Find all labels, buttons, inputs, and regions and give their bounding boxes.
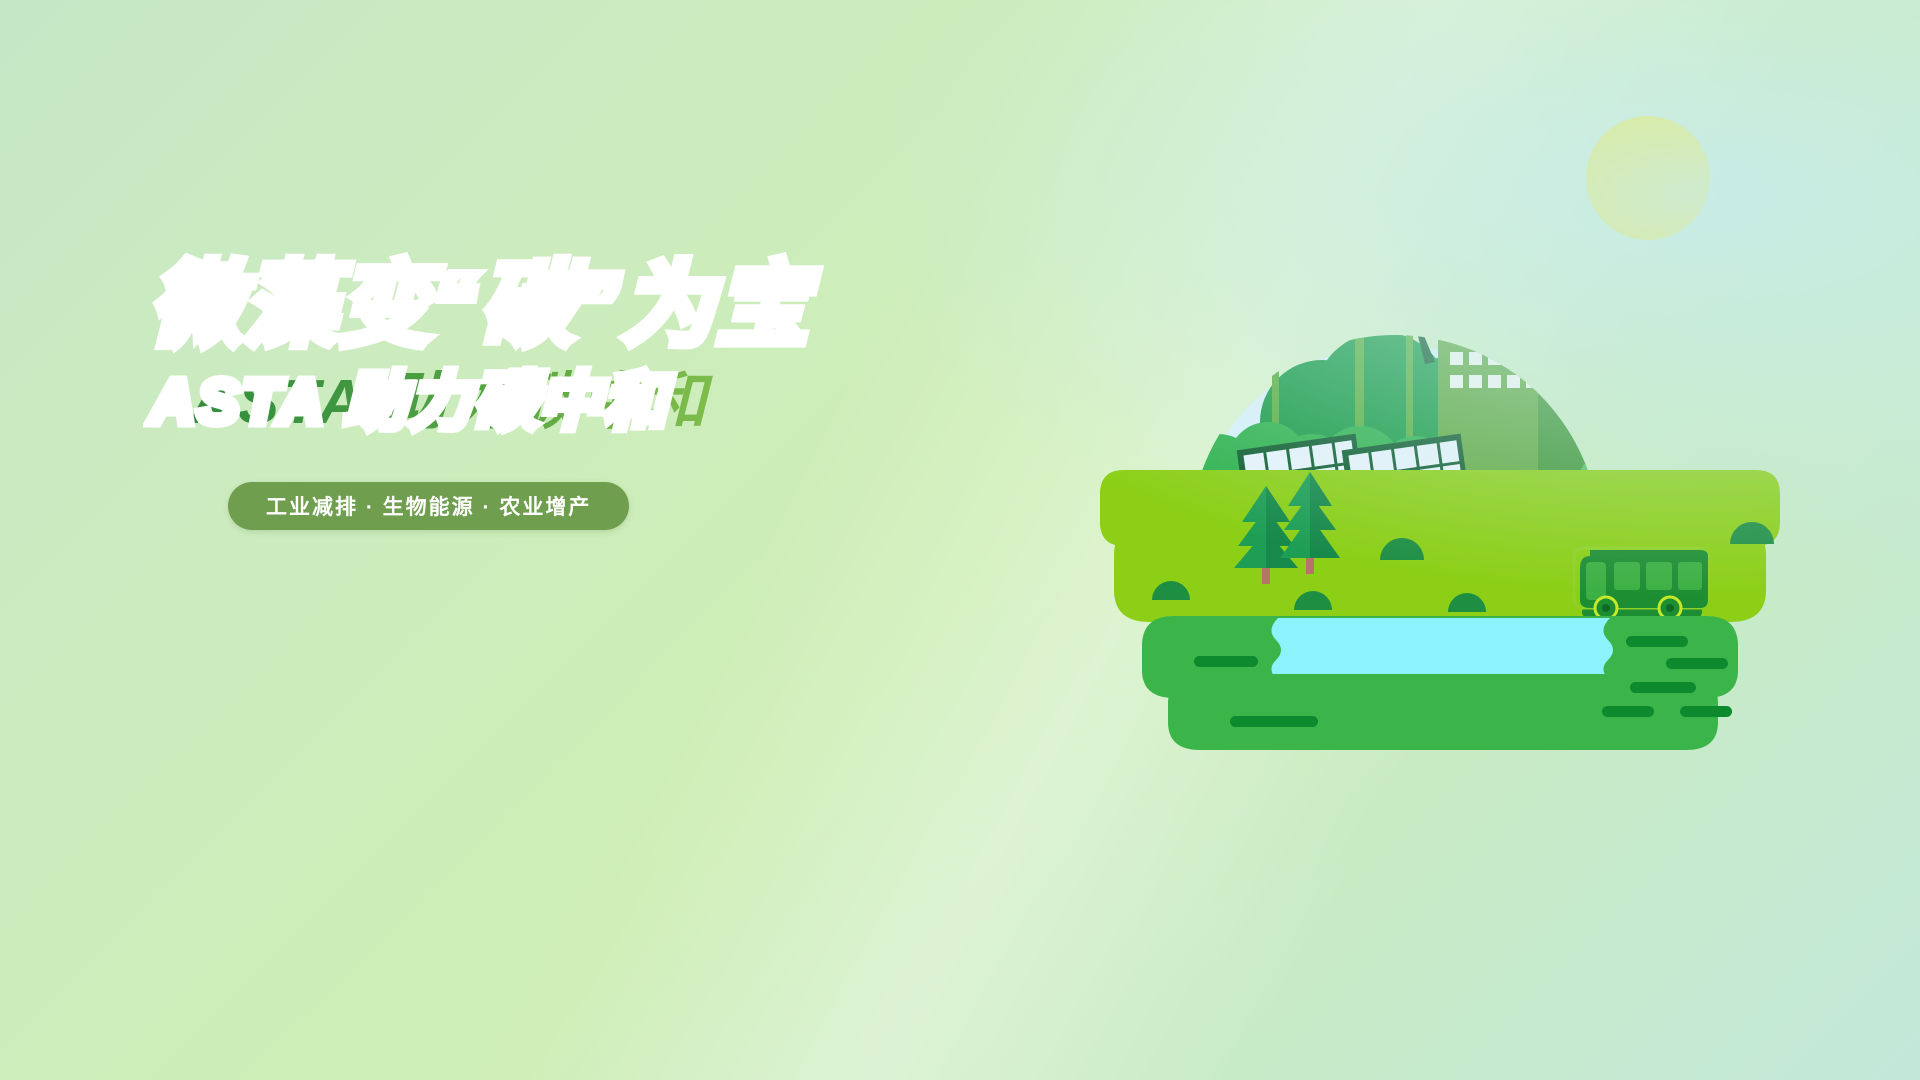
hero-title-line1-text: 微藻变“碳”为宝 <box>150 255 810 357</box>
tagline-pill: 工业减排 · 生物能源 · 农业增产 <box>228 482 629 530</box>
hero-banner: 微藻变“碳”为宝 微藻变“碳”为宝 ASTA 助力碳中和 ASTA 助力碳中和 … <box>0 0 1920 1080</box>
title-block: 微藻变“碳”为宝 微藻变“碳”为宝 ASTA 助力碳中和 ASTA 助力碳中和 <box>150 258 950 435</box>
hero-title-line1: 微藻变“碳”为宝 微藻变“碳”为宝 <box>150 258 950 356</box>
lake <box>1271 618 1613 680</box>
sun-icon <box>1586 116 1710 240</box>
hero-title-line2: ASTA 助力碳中和 ASTA 助力碳中和 <box>150 370 950 436</box>
tagline-text: 工业减排 · 生物能源 · 农业增产 <box>266 491 591 521</box>
hero-title-line2-text: ASTA 助力碳中和 <box>190 368 709 437</box>
hero-copy: 微藻变“碳”为宝 微藻变“碳”为宝 ASTA 助力碳中和 ASTA 助力碳中和 … <box>0 0 960 1080</box>
building-tall-windows <box>1546 254 1636 347</box>
electric-bus <box>1574 548 1708 619</box>
eco-illustration <box>1090 70 1790 710</box>
